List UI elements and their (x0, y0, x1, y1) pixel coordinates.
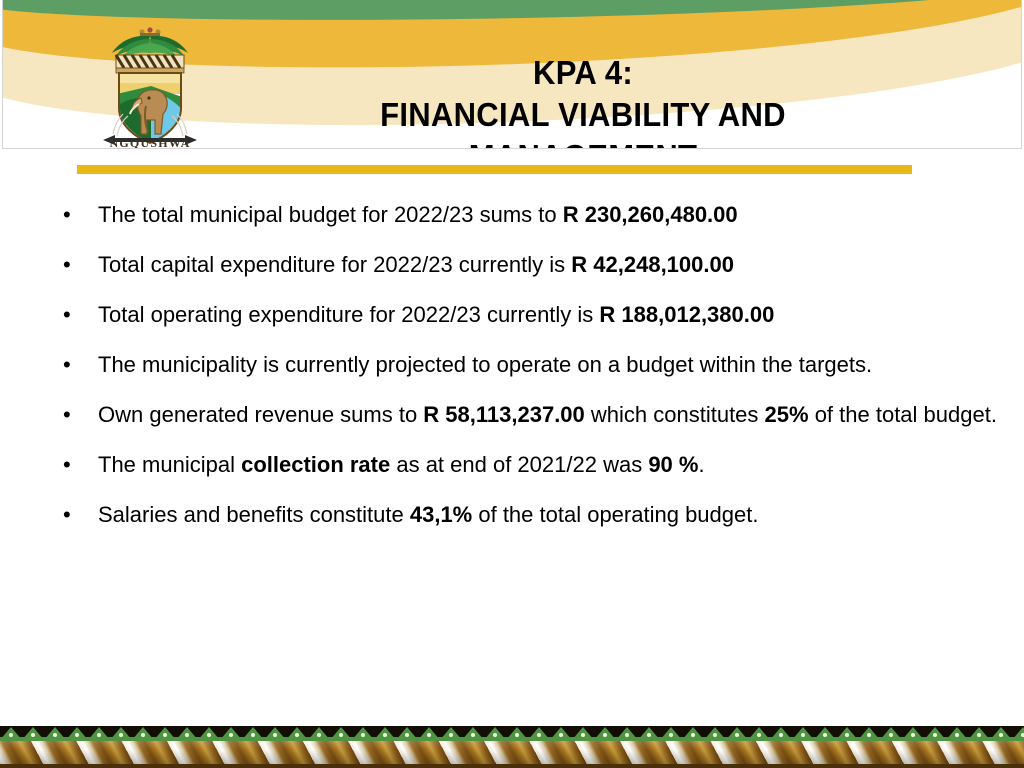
bullet-span: Total operating expenditure for 2022/23 … (98, 302, 599, 327)
bullet-list: •The total municipal budget for 2022/23 … (58, 190, 1008, 540)
bullet-emphasis: collection rate (241, 452, 390, 477)
bullet-text: Salaries and benefits constitute 43,1% o… (98, 502, 758, 527)
bullet-text: Own generated revenue sums to R 58,113,2… (98, 402, 997, 427)
logo-wordmark: NGQUSHWA (103, 135, 197, 149)
slide-header: NGQUSHWA KPA 4: FINANCIAL VIABILITY AND … (2, 0, 1022, 149)
bullet-span: Own generated revenue sums to (98, 402, 423, 427)
svg-text:NGQUSHWA: NGQUSHWA (110, 136, 191, 149)
bullet-span: Salaries and benefits constitute (98, 502, 410, 527)
title-line-2: FINANCIAL VIABILITY AND (310, 94, 855, 136)
beaded-band (116, 55, 184, 73)
bullet-span: of the total operating budget. (472, 502, 758, 527)
bullet-item: •The municipality is currently projected… (58, 340, 1008, 390)
bullet-marker-icon: • (63, 440, 71, 490)
bullet-emphasis: 25% (765, 402, 809, 427)
bullet-marker-icon: • (63, 340, 71, 390)
bullet-marker-icon: • (63, 190, 71, 240)
bullet-span: The municipal (98, 452, 241, 477)
bullet-item: •The total municipal budget for 2022/23 … (58, 190, 1008, 240)
bullet-item: •Own generated revenue sums to R 58,113,… (58, 390, 1008, 440)
title-line-1: KPA 4: (310, 52, 855, 94)
bullet-text: Total operating expenditure for 2022/23 … (98, 302, 774, 327)
page-title: KPA 4: FINANCIAL VIABILITY AND MANAGEMEN… (310, 52, 855, 149)
bullet-marker-icon: • (63, 490, 71, 540)
bullet-text: The total municipal budget for 2022/23 s… (98, 202, 738, 227)
bullet-item: •Total operating expenditure for 2022/23… (58, 290, 1008, 340)
bullet-emphasis: R 230,260,480.00 (563, 202, 738, 227)
bullet-span: The total municipal budget for 2022/23 s… (98, 202, 563, 227)
border-green-line (0, 737, 1024, 741)
title-divider-rule (77, 165, 912, 174)
municipality-logo: NGQUSHWA (89, 22, 211, 149)
bullet-span: as at end of 2021/22 was (390, 452, 648, 477)
bullet-emphasis: 90 % (648, 452, 698, 477)
bullet-item: •The municipal collection rate as at end… (58, 440, 1008, 490)
bullet-span: The municipality is currently projected … (98, 352, 872, 377)
bullet-item: •Total capital expenditure for 2022/23 c… (58, 240, 1008, 290)
bullet-span: of the total budget. (809, 402, 997, 427)
bullet-span: which constitutes (585, 402, 765, 427)
bullet-emphasis: 43,1% (410, 502, 472, 527)
bullet-marker-icon: • (63, 290, 71, 340)
bottom-beadwork-border (0, 726, 1024, 768)
bullet-text: Total capital expenditure for 2022/23 cu… (98, 252, 734, 277)
bullet-emphasis: R 188,012,380.00 (599, 302, 774, 327)
slide-canvas: NGQUSHWA KPA 4: FINANCIAL VIABILITY AND … (0, 0, 1024, 768)
bullet-text: The municipality is currently projected … (98, 352, 872, 377)
bullet-item: •Salaries and benefits constitute 43,1% … (58, 490, 1008, 540)
bullet-span: Total capital expenditure for 2022/23 cu… (98, 252, 571, 277)
bullet-marker-icon: • (63, 240, 71, 290)
bullet-emphasis: R 42,248,100.00 (571, 252, 734, 277)
bullet-text: The municipal collection rate as at end … (98, 452, 705, 477)
bullet-emphasis: R 58,113,237.00 (423, 402, 584, 427)
bullet-span: . (698, 452, 704, 477)
border-bottom-edge (0, 764, 1024, 768)
bullet-marker-icon: • (63, 390, 71, 440)
crown-icon (139, 27, 160, 36)
title-line-3: MANAGEMENT (310, 136, 855, 149)
